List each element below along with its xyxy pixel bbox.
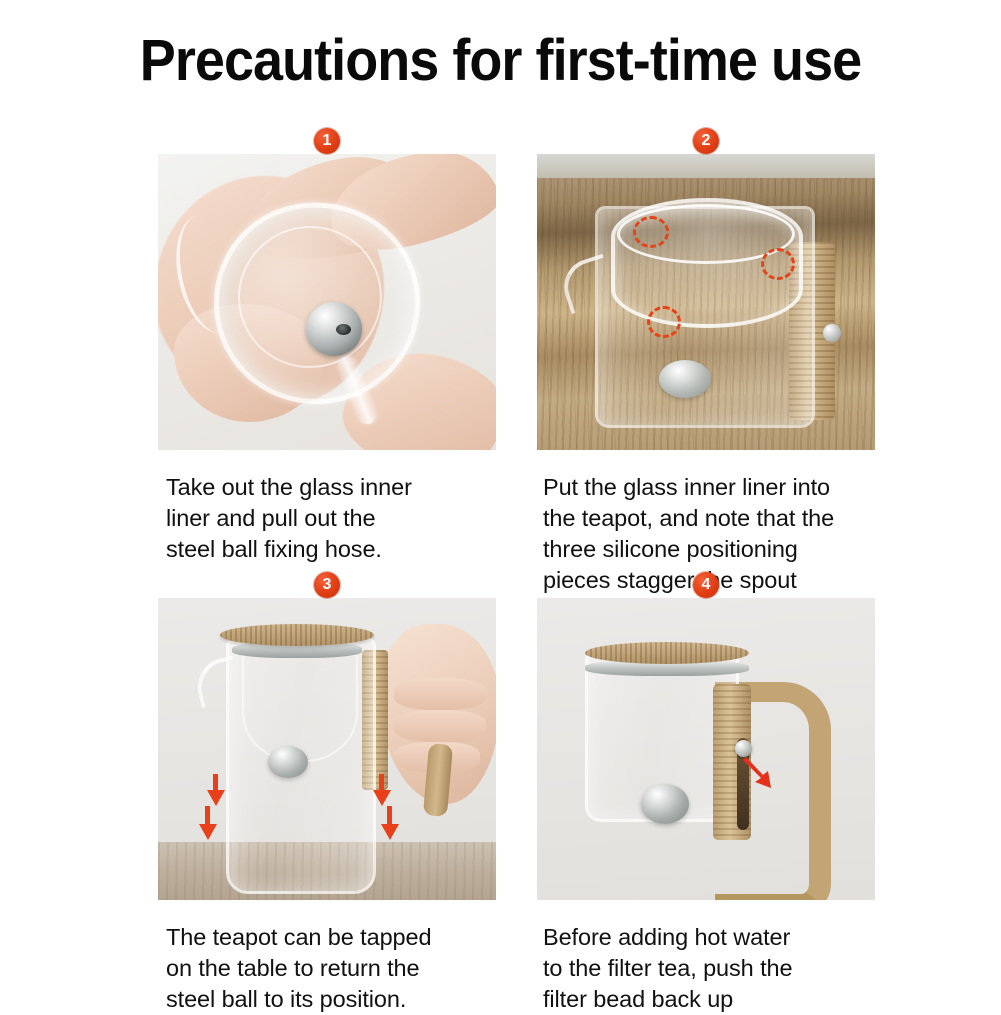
step-card-2: 2 Put the glass inner liner into the tea… (537, 128, 875, 596)
caption-line: steel ball to its position. (166, 984, 496, 1015)
tap-arrow-left-2 (199, 824, 217, 840)
background-upper-band (537, 154, 875, 178)
step-card-4: 4 Before adding hot water to the filter … (537, 572, 875, 1015)
push-up-arrow-icon (735, 754, 795, 810)
wooden-lid (585, 642, 749, 664)
step-card-3: 3 The teapot can be tapped on the table … (158, 572, 496, 1015)
step-badge-4: 4 (693, 572, 719, 598)
caption-line: filter bead back up (543, 984, 875, 1015)
steel-ball (306, 302, 362, 356)
step-badge-2: 2 (693, 128, 719, 154)
caption-line: The teapot can be tapped (166, 922, 496, 953)
tap-arrow-right-1 (373, 790, 391, 806)
glass-inner-liner (242, 654, 358, 762)
step-photo-2 (537, 154, 875, 450)
caption-line: liner and pull out the (166, 503, 496, 534)
step-badge-row-1: 1 (158, 128, 496, 154)
step-caption-1: Take out the glass inner liner and pull … (158, 472, 496, 565)
tap-arrow-left-1 (207, 790, 225, 806)
step-badge-row-2: 2 (537, 128, 875, 154)
caption-line: the teapot, and note that the (543, 503, 875, 534)
tap-arrow-right-2 (381, 824, 399, 840)
step-badge-row-4: 4 (537, 572, 875, 598)
page-title: Precautions for first-time use (35, 28, 966, 94)
caption-line: Take out the glass inner (166, 472, 496, 503)
step-photo-3 (158, 598, 496, 900)
silicone-positioning-marker-1 (633, 216, 669, 248)
caption-line: steel ball fixing hose. (166, 534, 496, 565)
handle-knob (823, 324, 841, 342)
caption-line: Before adding hot water (543, 922, 875, 953)
finger (394, 710, 486, 742)
step-card-1: 1 Take out the glass inner liner and pul… (158, 128, 496, 565)
steel-ball (268, 746, 308, 778)
wooden-lid (220, 624, 374, 646)
finger (394, 678, 486, 710)
step-badge-3: 3 (314, 572, 340, 598)
caption-line: on the table to return the (166, 953, 496, 984)
silicone-positioning-marker-2 (761, 248, 795, 280)
steel-ball-hole (336, 324, 351, 335)
caption-line: three silicone positioning (543, 534, 875, 565)
step-photo-4 (537, 598, 875, 900)
step-badge-1: 1 (314, 128, 340, 154)
caption-line: to the filter tea, push the (543, 953, 875, 984)
step-caption-3: The teapot can be tapped on the table to… (158, 922, 496, 1015)
silicone-positioning-marker-3 (647, 306, 681, 338)
steel-ball (659, 360, 711, 398)
caption-line: Put the glass inner liner into (543, 472, 875, 503)
step-photo-1 (158, 154, 496, 450)
step-badge-row-3: 3 (158, 572, 496, 598)
steel-ball (641, 784, 689, 824)
step-caption-4: Before adding hot water to the filter te… (537, 922, 875, 1015)
